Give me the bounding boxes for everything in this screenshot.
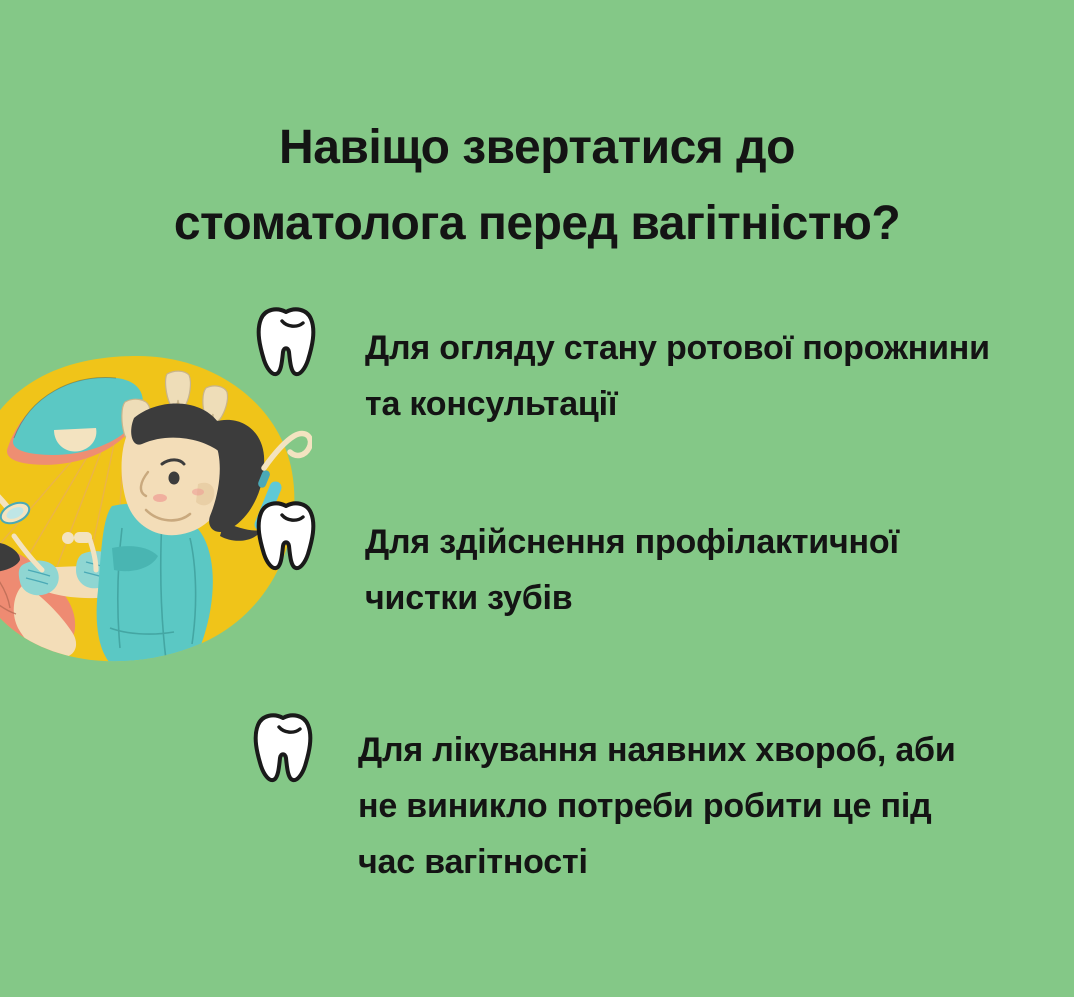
list-item-label: Для здійснення профілактичної чистки зуб… <box>365 500 1005 626</box>
list-item: Для огляду стану ротової порожнини та ко… <box>255 306 1045 432</box>
tooth-icon <box>255 306 317 378</box>
list-item-label: Для лікування наявних хвороб, аби не вин… <box>358 712 968 890</box>
list-item: Для здійснення профілактичної чистки зуб… <box>255 500 1045 626</box>
list-item: Для лікування наявних хвороб, аби не вин… <box>252 712 1042 890</box>
tooth-icon <box>255 500 317 572</box>
tooth-icon <box>252 712 314 784</box>
infographic-poster: Навіщо звертатися до стоматолога перед в… <box>0 0 1074 997</box>
benefits-list: Для огляду стану ротової порожнини та ко… <box>0 0 1074 997</box>
list-item-label: Для огляду стану ротової порожнини та ко… <box>365 306 1005 432</box>
